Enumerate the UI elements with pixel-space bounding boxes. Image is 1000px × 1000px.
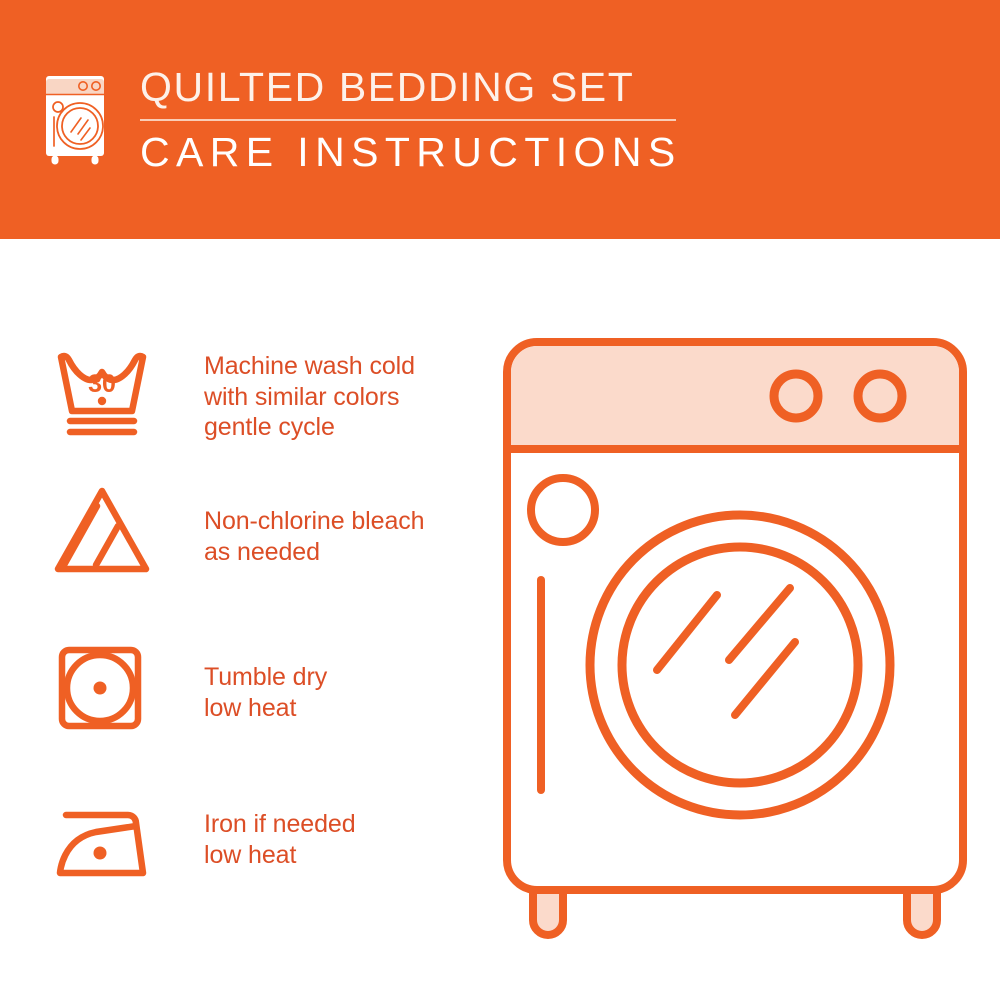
care-item-label: Non-chlorine bleach as needed [204, 479, 424, 567]
care-item-bleach: Non-chlorine bleach as needed [48, 479, 488, 581]
header-banner: QUILTED BEDDING SET CARE INSTRUCTIONS [0, 0, 1000, 239]
care-item-tumble-dry: Tumble dry low heat [48, 637, 488, 739]
wash-temperature-value: 30 [88, 370, 116, 398]
care-item-wash: 30 Machine wash cold with similar colors… [48, 339, 488, 443]
care-item-label: Tumble dry low heat [204, 637, 327, 723]
title-block: QUILTED BEDDING SET CARE INSTRUCTIONS [140, 62, 682, 175]
page-title: QUILTED BEDDING SET [140, 64, 682, 110]
leg-right [907, 890, 937, 935]
care-item-label: Machine wash cold with similar colors ge… [204, 339, 415, 443]
care-item-label: Iron if needed low heat [204, 787, 356, 870]
washing-machine-illustration [495, 330, 975, 940]
leg-left [533, 890, 563, 935]
wash-tub-30-gentle-icon: 30 [48, 339, 156, 441]
washing-machine-icon [40, 62, 112, 166]
control-panel [511, 346, 959, 450]
header-content: QUILTED BEDDING SET CARE INSTRUCTIONS [40, 62, 682, 175]
page-subtitle: CARE INSTRUCTIONS [140, 129, 682, 175]
non-chlorine-bleach-triangle-icon [48, 479, 156, 581]
tumble-dry-low-heat-icon [48, 637, 156, 739]
care-item-iron: Iron if needed low heat [48, 787, 488, 889]
title-divider [140, 119, 676, 121]
iron-low-heat-icon [48, 787, 156, 889]
care-instructions-list: 30 Machine wash cold with similar colors… [0, 239, 500, 1000]
